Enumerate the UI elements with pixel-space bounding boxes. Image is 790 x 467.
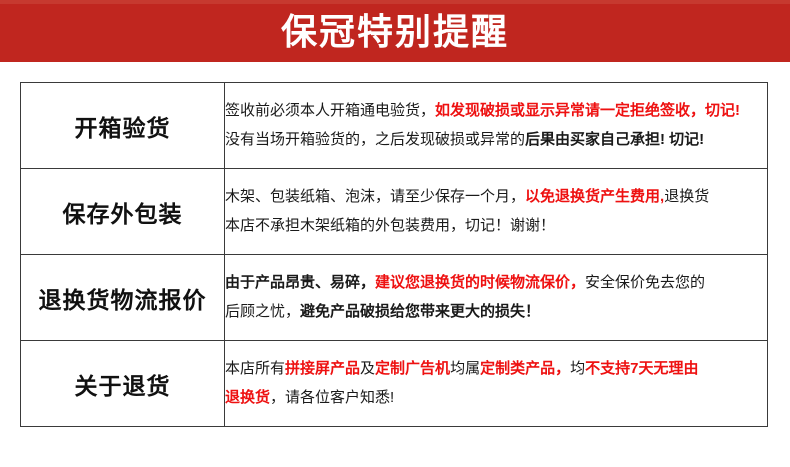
row-content: 签收前必须本人开箱通电验货，如发现破损或显示异常请一定拒绝签收，切记!没有当场开…	[225, 83, 768, 169]
row-content-line: 木架、包装纸箱、泡沫，请至少保存一个月，以免退换货产生费用,退换货	[225, 183, 767, 212]
notice-table: 开箱验货签收前必须本人开箱通电验货，如发现破损或显示异常请一定拒绝签收，切记!没…	[20, 82, 768, 427]
text-segment-emphasis: 以免退换货产生费用,	[525, 188, 664, 205]
row-content-line: 由于产品昂贵、易碎，建议您退换货的时候物流保价，安全保价免去您的	[225, 269, 767, 298]
text-segment: ，请各位客户知悉!	[270, 389, 394, 406]
row-content-line: 没有当场开箱验货的，之后发现破损或异常的后果由买家自己承担! 切记!	[225, 126, 767, 155]
text-segment: 由于产品昂贵、易碎，	[225, 274, 375, 291]
text-segment-emphasis: 建议您退换货的时候物流保价，	[375, 274, 585, 291]
row-content: 由于产品昂贵、易碎，建议您退换货的时候物流保价，安全保价免去您的后顾之忧，避免产…	[225, 255, 768, 341]
text-segment: 本店所有	[225, 360, 285, 377]
text-segment: 后果由买家自己承担! 切记!	[525, 131, 704, 148]
text-segment: 后顾之忧，	[225, 303, 300, 320]
text-segment: 避免产品破损给您带来更大的损失！	[300, 303, 540, 320]
text-segment: 木架、包装纸箱、泡沫，请至少保存一个月，	[225, 188, 525, 205]
text-segment-emphasis: 不支持7天无理由	[585, 360, 698, 377]
row-content: 本店所有拼接屏产品及定制广告机均属定制类产品，均不支持7天无理由退换货，请各位客…	[225, 341, 768, 427]
notice-page: 保冠特别提醒 开箱验货签收前必须本人开箱通电验货，如发现破损或显示异常请一定拒绝…	[0, 0, 790, 467]
text-segment-emphasis: 退换货	[225, 389, 270, 406]
table-row: 保存外包装木架、包装纸箱、泡沫，请至少保存一个月，以免退换货产生费用,退换货本店…	[21, 169, 768, 255]
table-row: 开箱验货签收前必须本人开箱通电验货，如发现破损或显示异常请一定拒绝签收，切记!没…	[21, 83, 768, 169]
text-segment: 签收前必须本人开箱通电验货，	[225, 102, 435, 119]
row-label: 保存外包装	[21, 169, 225, 255]
row-content-line: 后顾之忧，避免产品破损给您带来更大的损失！	[225, 298, 767, 327]
row-label: 关于退货	[21, 341, 225, 427]
text-segment: 均属	[450, 360, 480, 377]
row-content-line: 签收前必须本人开箱通电验货，如发现破损或显示异常请一定拒绝签收，切记!	[225, 97, 767, 126]
table-row: 关于退货本店所有拼接屏产品及定制广告机均属定制类产品，均不支持7天无理由退换货，…	[21, 341, 768, 427]
text-segment-emphasis: 定制类产品，	[480, 360, 570, 377]
row-content-line: 退换货，请各位客户知悉!	[225, 384, 767, 413]
text-segment: 没有当场开箱验货的，之后发现破损或异常的	[225, 131, 525, 148]
header-banner: 保冠特别提醒	[0, 0, 790, 62]
table-row: 退换货物流报价由于产品昂贵、易碎，建议您退换货的时候物流保价，安全保价免去您的后…	[21, 255, 768, 341]
page-title: 保冠特别提醒	[281, 14, 509, 52]
text-segment: 本店不承担木架纸箱的外包装费用，切记！谢谢！	[225, 217, 555, 234]
row-label: 开箱验货	[21, 83, 225, 169]
text-segment-emphasis: 拼接屏产品	[285, 360, 360, 377]
text-segment: 及	[360, 360, 375, 377]
row-label: 退换货物流报价	[21, 255, 225, 341]
text-segment-emphasis: 如发现破损或显示异常请一定拒绝签收，切记!	[435, 102, 740, 119]
notice-table-body: 开箱验货签收前必须本人开箱通电验货，如发现破损或显示异常请一定拒绝签收，切记!没…	[21, 83, 768, 427]
text-segment-emphasis: 定制广告机	[375, 360, 450, 377]
row-content: 木架、包装纸箱、泡沫，请至少保存一个月，以免退换货产生费用,退换货本店不承担木架…	[225, 169, 768, 255]
text-segment: 安全保价免去您的	[585, 274, 705, 291]
text-segment: 均	[570, 360, 585, 377]
row-content-line: 本店不承担木架纸箱的外包装费用，切记！谢谢！	[225, 212, 767, 241]
text-segment: 退换货	[664, 188, 709, 205]
row-content-line: 本店所有拼接屏产品及定制广告机均属定制类产品，均不支持7天无理由	[225, 355, 767, 384]
